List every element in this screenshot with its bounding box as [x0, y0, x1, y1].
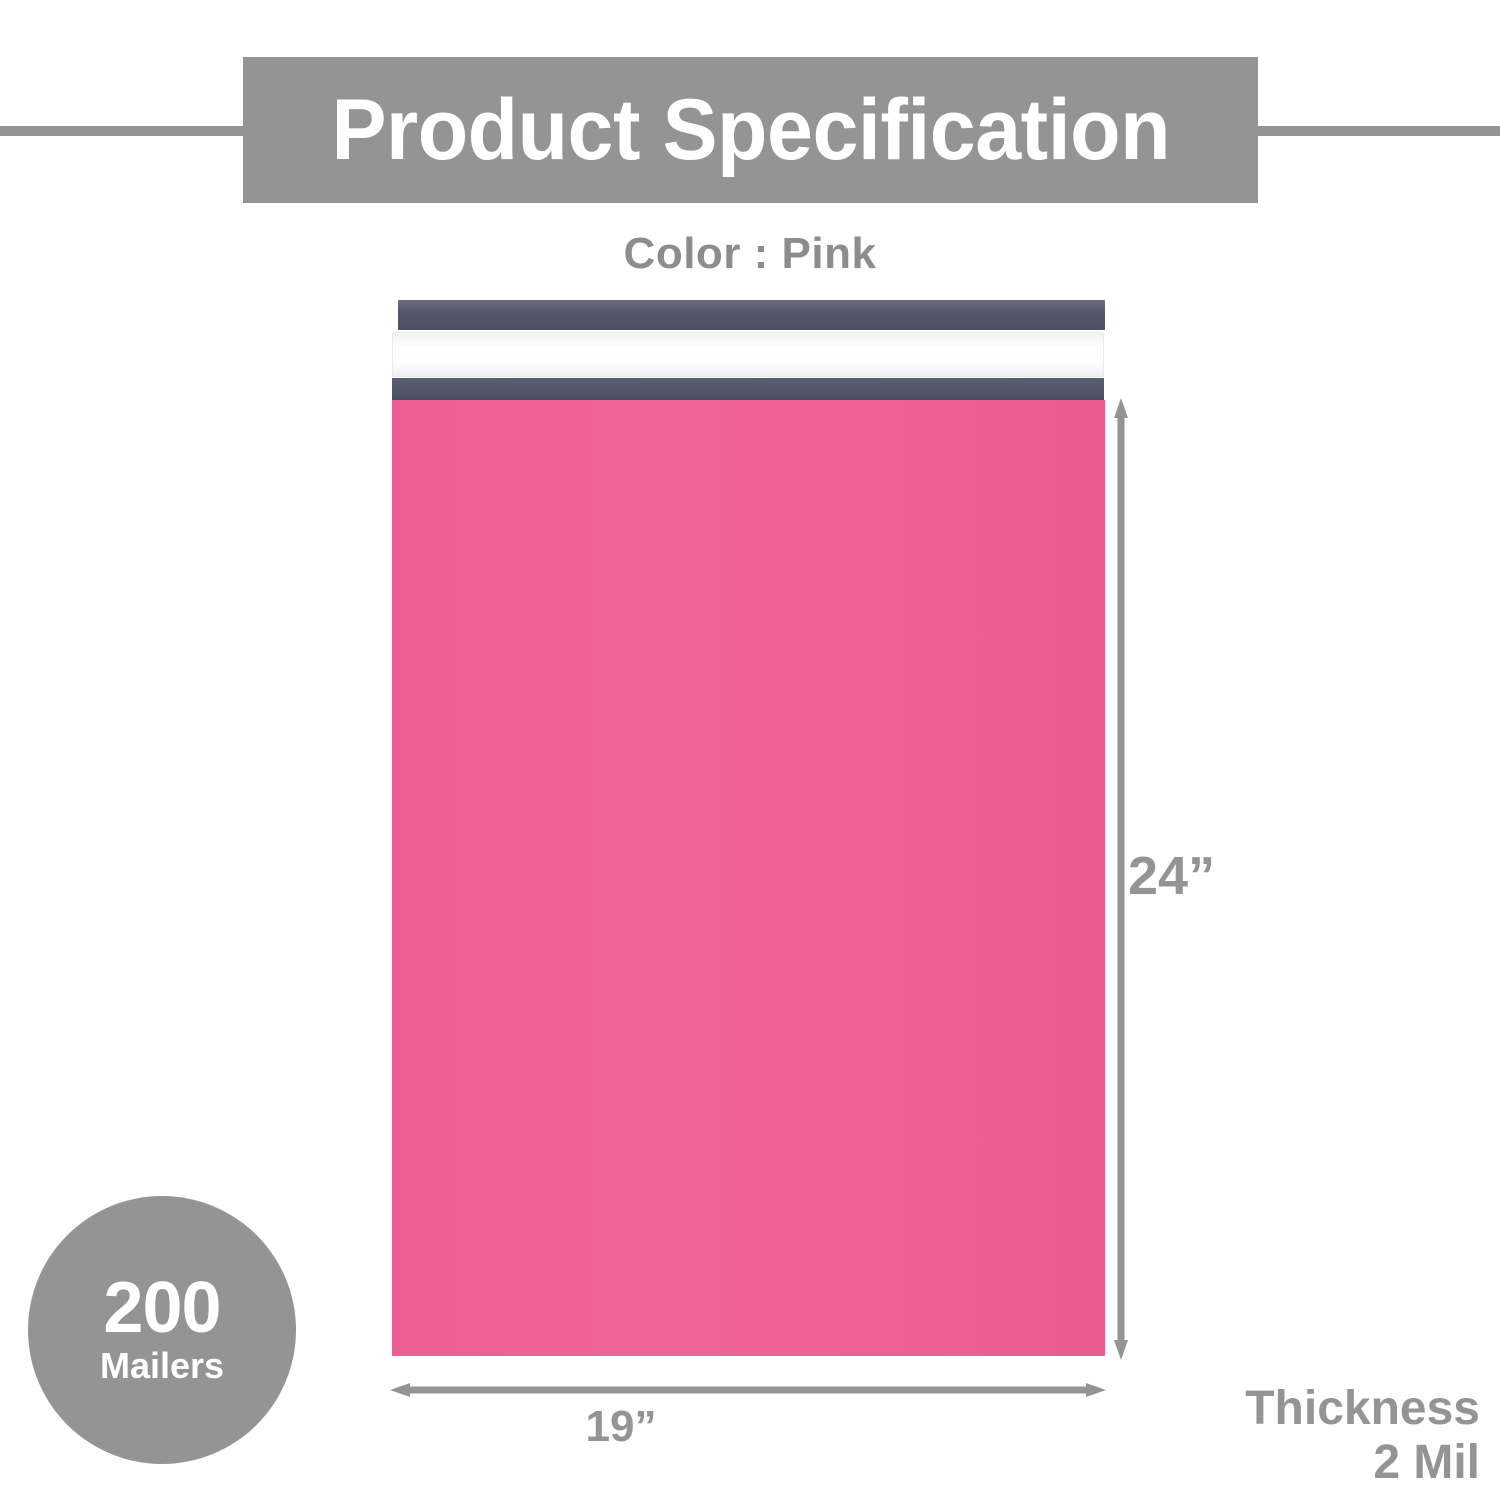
thickness-block: Thickness 2 Mil [1245, 1382, 1480, 1490]
thickness-value: 2 Mil [1245, 1436, 1480, 1490]
mailer-flap-bottom-strip [392, 378, 1104, 400]
height-arrow-icon [1114, 398, 1128, 1360]
product-specification-page: Product Specification Color : Pink 24” 1… [0, 0, 1500, 1500]
header-banner: Product Specification [243, 57, 1258, 203]
width-dimension-arrow [390, 1382, 1106, 1398]
width-arrow-icon [390, 1382, 1106, 1398]
height-dimension-label: 24” [1128, 845, 1215, 907]
color-caption: Color : Pink [0, 229, 1500, 279]
quantity-badge-count: 200 [103, 1274, 220, 1342]
height-dimension-arrow [1114, 398, 1128, 1360]
mailer-flap-top-strip [398, 300, 1105, 330]
thickness-label: Thickness [1245, 1382, 1480, 1436]
poly-mailer-illustration [392, 300, 1105, 1356]
header-rule-right [1256, 126, 1500, 136]
quantity-badge: 200 Mailers [28, 1196, 296, 1464]
mailer-body [392, 400, 1105, 1356]
mailer-adhesive-liner-strip [392, 332, 1104, 377]
header-rule-left [0, 126, 246, 136]
page-title: Product Specification [331, 87, 1170, 173]
quantity-badge-unit: Mailers [100, 1346, 224, 1386]
width-dimension-label-text: 19” [586, 1402, 657, 1451]
